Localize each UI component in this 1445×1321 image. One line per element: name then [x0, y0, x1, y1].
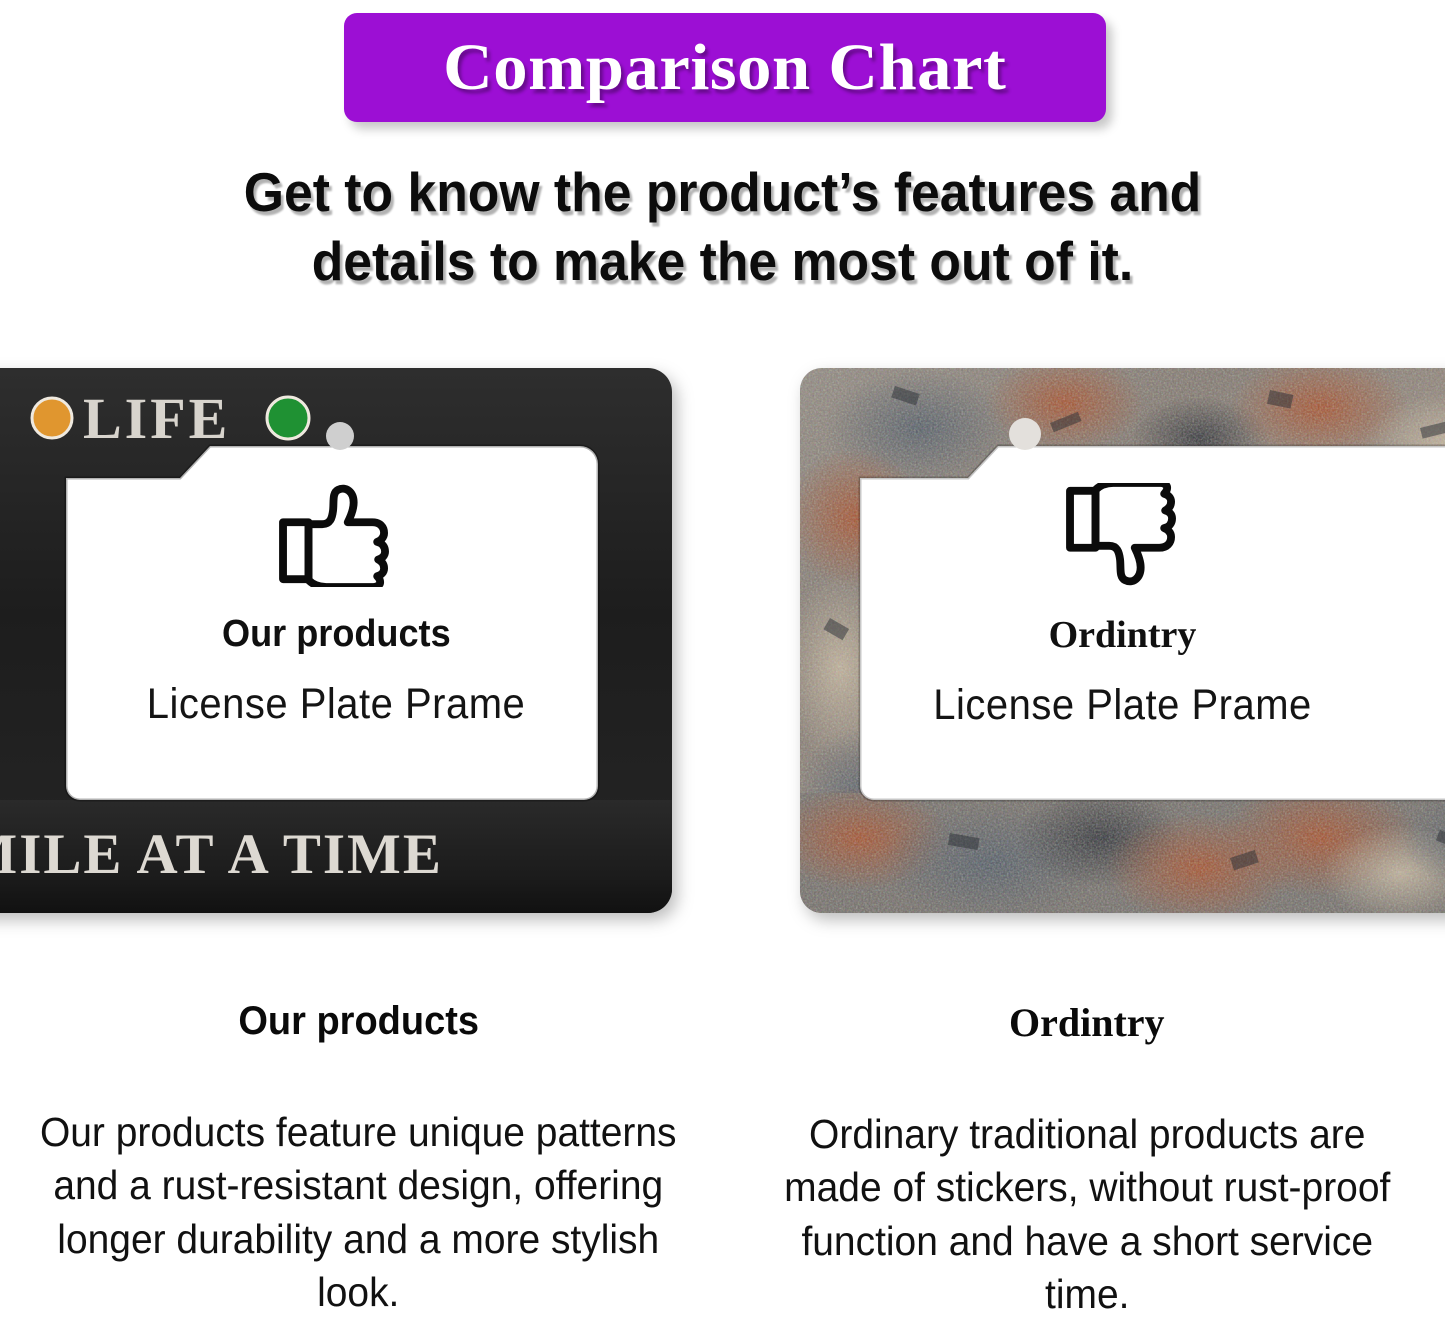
plate-title-ordintry: Ordintry — [1049, 613, 1197, 657]
comparison-column-ordintry: Ordintry Ordinary traditional products a… — [723, 985, 1445, 1314]
column-body-our-products: Our products feature unique patterns and… — [33, 1106, 683, 1319]
product-panels: IVE LIFE ER MILE AT A TIME — [0, 355, 1445, 935]
plate-subtitle-ordintry: License Plate Prame — [933, 682, 1312, 730]
plate-subtitle-our-products: License Plate Prame — [147, 681, 526, 729]
column-body-ordintry: Ordinary traditional products are made o… — [762, 1108, 1412, 1321]
column-heading-ordintry: Ordintry — [1009, 999, 1165, 1046]
screw-hole — [1009, 418, 1041, 450]
frame-top-text-2: LIFE — [83, 386, 230, 451]
frame-bottom-text: ER MILE AT A TIME — [0, 823, 443, 886]
ordinary-product-plate-content: Ordintry License Plate Prame — [800, 475, 1445, 775]
comparison-columns: Our products Our products feature unique… — [0, 985, 1445, 1314]
screw-hole — [326, 422, 354, 450]
plate-title-our-products: Our products — [222, 613, 451, 656]
comparison-column-our-products: Our products Our products feature unique… — [0, 985, 723, 1314]
subtitle-line-2: details to make the most out of it. — [43, 227, 1401, 296]
orange-dot-icon — [32, 398, 72, 438]
thumbs-up-icon — [277, 483, 395, 587]
comparison-chart-banner: Comparison Chart — [344, 13, 1106, 122]
column-heading-our-products: Our products — [238, 999, 479, 1044]
thumbs-down-icon — [1064, 483, 1182, 587]
page-title: Comparison Chart — [443, 30, 1006, 106]
green-dot-icon — [267, 397, 309, 439]
subtitle: Get to know the product’s features and d… — [43, 158, 1401, 296]
our-product-plate-content: Our products License Plate Prame — [0, 475, 672, 775]
subtitle-line-1: Get to know the product’s features and — [43, 158, 1401, 227]
